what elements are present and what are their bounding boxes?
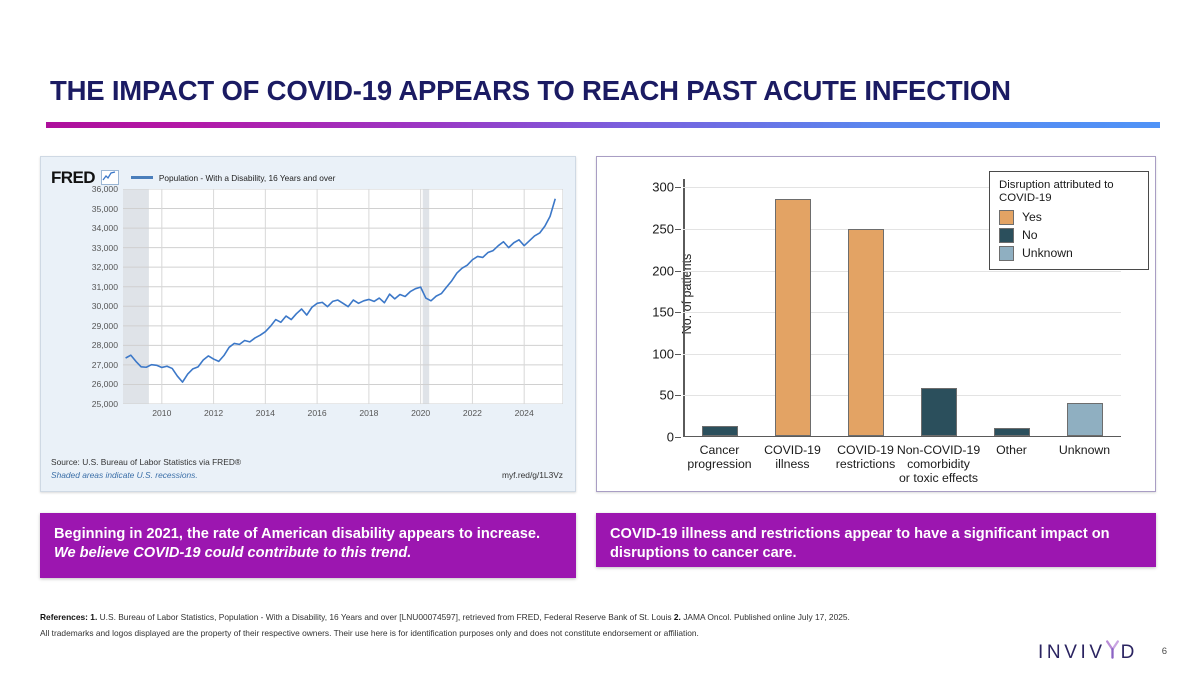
caption-left-text: Beginning in 2021, the rate of American … bbox=[54, 526, 540, 542]
page-title: THE IMPACT OF COVID-19 APPEARS TO REACH … bbox=[50, 76, 1160, 106]
fred-x-tick-label: 2014 bbox=[256, 408, 275, 418]
recession-shading bbox=[123, 189, 149, 404]
fred-recession-note: Shaded areas indicate U.S. recessions. bbox=[51, 470, 198, 480]
caption-right: COVID-19 illness and restrictions appear… bbox=[596, 513, 1156, 567]
bar-category-label: COVID-19restrictions bbox=[836, 444, 895, 472]
invivyd-logo-text: INVIV D bbox=[1038, 640, 1138, 665]
bar-gridline bbox=[683, 312, 1121, 313]
invivyd-logo: INVIV D bbox=[1038, 640, 1138, 665]
fred-x-tick-label: 2012 bbox=[204, 408, 223, 418]
bar-no bbox=[994, 428, 1030, 436]
fred-x-tick-label: 2020 bbox=[411, 408, 430, 418]
fred-y-tick-label: 36,000 bbox=[92, 184, 118, 194]
fred-logo: FRED bbox=[51, 169, 95, 186]
fred-y-tick-label: 25,000 bbox=[92, 399, 118, 409]
bar-y-tick-mark bbox=[675, 312, 681, 313]
bar-y-tick-mark bbox=[675, 229, 681, 230]
fred-y-tick-label: 28,000 bbox=[92, 340, 118, 350]
legend-swatch-unknown bbox=[999, 246, 1014, 261]
fred-x-tick-label: 2024 bbox=[515, 408, 534, 418]
references-label: References: bbox=[40, 612, 88, 622]
fred-x-tick-label: 2022 bbox=[463, 408, 482, 418]
legend-title: Disruption attributed to COVID-19 bbox=[999, 179, 1140, 206]
bar-y-tick-label: 300 bbox=[652, 180, 674, 195]
legend-item-yes: Yes bbox=[999, 210, 1140, 225]
bar-y-tick-mark bbox=[675, 437, 681, 438]
fred-y-tick-label: 26,000 bbox=[92, 379, 118, 389]
bar-category-label: Non-COVID-19comorbidityor toxic effects bbox=[897, 444, 980, 485]
page-number: 6 bbox=[1162, 646, 1167, 657]
fred-chart-panel: FRED Population - With a Disability, 16 … bbox=[40, 156, 576, 492]
logo-text-left: INVIV bbox=[1038, 642, 1106, 664]
logo-text-right: D bbox=[1121, 642, 1138, 664]
slide-root: THE IMPACT OF COVID-19 APPEARS TO REACH … bbox=[0, 0, 1200, 675]
legend-item-unknown: Unknown bbox=[999, 246, 1140, 261]
bar-y-tick-label: 250 bbox=[652, 221, 674, 236]
bar-y-tick-mark bbox=[675, 395, 681, 396]
bar-category-label: COVID-19illness bbox=[764, 444, 821, 472]
title-divider bbox=[46, 122, 1160, 128]
legend-label-unknown: Unknown bbox=[1022, 246, 1073, 260]
fred-legend-swatch bbox=[131, 176, 153, 179]
antibody-y-icon bbox=[1105, 640, 1120, 665]
bar-y-axis-line bbox=[683, 179, 685, 437]
legend-swatch-yes bbox=[999, 210, 1014, 225]
references-line1: References: 1. U.S. Bureau of Labor Stat… bbox=[40, 612, 1000, 624]
fred-x-tick-label: 2016 bbox=[308, 408, 327, 418]
bar-category-label: Unknown bbox=[1059, 444, 1110, 458]
bar-yes bbox=[775, 199, 811, 436]
caption-left-emphasis: We believe COVID-19 could contribute to … bbox=[54, 545, 411, 561]
bar-y-tick-mark bbox=[675, 271, 681, 272]
bar-y-tick-label: 100 bbox=[652, 346, 674, 361]
caption-right-text: COVID-19 illness and restrictions appear… bbox=[610, 526, 1110, 561]
fred-y-tick-label: 31,000 bbox=[92, 282, 118, 292]
bar-y-tick-label: 200 bbox=[652, 263, 674, 278]
bar-gridline bbox=[683, 354, 1121, 355]
bar-y-tick-mark bbox=[675, 187, 681, 188]
bar-no bbox=[702, 426, 738, 436]
disruption-bar-chart-panel: No. of patients 050100150200250300Cancer… bbox=[596, 156, 1156, 492]
fred-y-tick-label: 34,000 bbox=[92, 223, 118, 233]
bar-y-tick-mark bbox=[675, 354, 681, 355]
legend-item-no: No bbox=[999, 228, 1140, 243]
fred-line-chart bbox=[123, 189, 563, 404]
fred-x-tick-label: 2010 bbox=[152, 408, 171, 418]
bar-gridline bbox=[683, 395, 1121, 396]
fred-short-url[interactable]: myf.red/g/1L3Vz bbox=[502, 470, 563, 480]
fred-source-text: Source: U.S. Bureau of Labor Statistics … bbox=[51, 457, 241, 467]
legend-swatch-no bbox=[999, 228, 1014, 243]
fred-y-tick-label: 32,000 bbox=[92, 262, 118, 272]
legend-label-yes: Yes bbox=[1022, 210, 1042, 224]
fred-x-tick-label: 2018 bbox=[359, 408, 378, 418]
bar-no bbox=[921, 388, 957, 436]
ref1-text: U.S. Bureau of Labor Statistics, Populat… bbox=[97, 612, 674, 622]
ref2-text: JAMA Oncol. Published online July 17, 20… bbox=[681, 612, 850, 622]
bar-x-axis-line bbox=[683, 436, 1121, 438]
bar-category-label: Cancerprogression bbox=[687, 444, 751, 472]
caption-left: Beginning in 2021, the rate of American … bbox=[40, 513, 576, 578]
fred-y-tick-label: 29,000 bbox=[92, 321, 118, 331]
bar-yes bbox=[848, 229, 884, 436]
line-chart-icon bbox=[101, 170, 119, 185]
fred-y-tick-label: 27,000 bbox=[92, 360, 118, 370]
bar-y-tick-label: 0 bbox=[667, 430, 674, 445]
bar-unknown bbox=[1067, 403, 1103, 436]
ref2-number: 2. bbox=[674, 612, 681, 622]
bar-y-tick-label: 50 bbox=[660, 388, 674, 403]
references-block: References: 1. U.S. Bureau of Labor Stat… bbox=[40, 612, 1000, 640]
bar-category-label: Other bbox=[996, 444, 1027, 458]
trademark-note: All trademarks and logos displayed are t… bbox=[40, 628, 1000, 640]
bar-chart-legend: Disruption attributed to COVID-19 Yes No… bbox=[989, 171, 1149, 270]
fred-y-tick-label: 35,000 bbox=[92, 204, 118, 214]
bar-y-tick-label: 150 bbox=[652, 305, 674, 320]
fred-y-tick-label: 30,000 bbox=[92, 301, 118, 311]
bar-gridline bbox=[683, 271, 1121, 272]
fred-legend-label: Population - With a Disability, 16 Years… bbox=[159, 173, 335, 183]
legend-label-no: No bbox=[1022, 228, 1038, 242]
fred-plot-area: Thousands of Persons 36,00035,00034,0003… bbox=[123, 189, 563, 404]
fred-y-tick-label: 33,000 bbox=[92, 243, 118, 253]
